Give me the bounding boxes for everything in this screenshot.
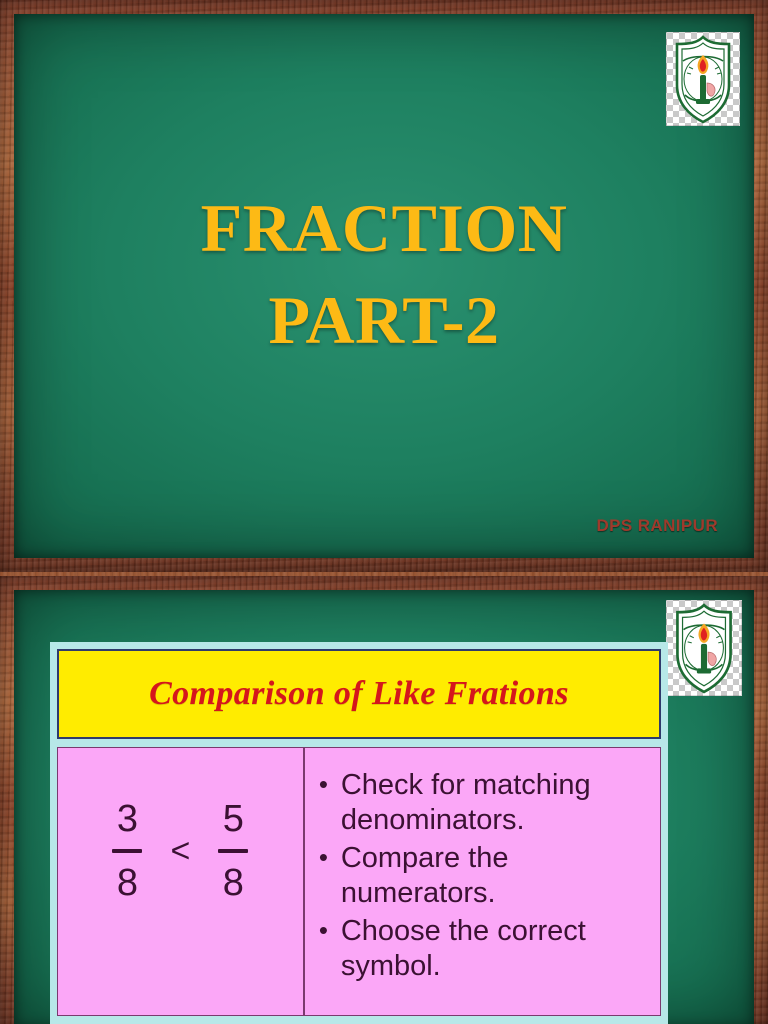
table-cell-steps: • Check for matching denominators. • Com… (305, 748, 660, 1015)
bullet-icon: • (319, 769, 328, 801)
slide-1-title[interactable]: FRACTION PART-2 DPS RANIPUR (0, 0, 768, 572)
right-fraction-bar (218, 849, 248, 853)
left-fraction-bar (112, 849, 142, 853)
list-item-label: Choose the correct symbol. (341, 915, 586, 982)
page-title: FRACTION PART-2 (14, 182, 754, 366)
steps-list: • Check for matching denominators. • Com… (315, 768, 652, 984)
left-fraction: 3 8 (112, 800, 142, 902)
lesson-content-card: Comparison of Like Frations 3 8 < 5 8 (50, 642, 668, 1024)
bullet-icon: • (319, 915, 328, 947)
list-item-label: Check for matching denominators. (341, 769, 591, 836)
school-name-label: DPS RANIPUR (596, 516, 718, 536)
title-line-1: FRACTION (14, 182, 754, 274)
list-item: • Compare the numerators. (315, 841, 652, 912)
right-denominator: 8 (223, 864, 244, 902)
chalkboard-slide-1: FRACTION PART-2 DPS RANIPUR (14, 14, 754, 558)
school-crest-icon (666, 600, 742, 696)
left-denominator: 8 (117, 864, 138, 902)
bullet-icon: • (319, 842, 328, 874)
list-item-label: Compare the numerators. (341, 842, 509, 909)
section-title-bar: Comparison of Like Frations (57, 649, 661, 739)
comparison-table: 3 8 < 5 8 • Check for match (57, 747, 661, 1016)
comparison-symbol: < (170, 832, 190, 871)
list-item: • Check for matching denominators. (315, 768, 652, 839)
list-item: • Choose the correct symbol. (315, 914, 652, 985)
presentation-page: FRACTION PART-2 DPS RANIPUR (0, 0, 768, 1024)
right-numerator: 5 (223, 800, 244, 838)
table-cell-example: 3 8 < 5 8 (58, 748, 305, 1015)
right-fraction: 5 8 (218, 800, 248, 902)
fraction-comparison-expression: 3 8 < 5 8 (112, 800, 248, 902)
school-crest-icon (666, 32, 740, 126)
left-numerator: 3 (117, 800, 138, 838)
title-line-2: PART-2 (14, 274, 754, 366)
section-title: Comparison of Like Frations (149, 675, 569, 713)
